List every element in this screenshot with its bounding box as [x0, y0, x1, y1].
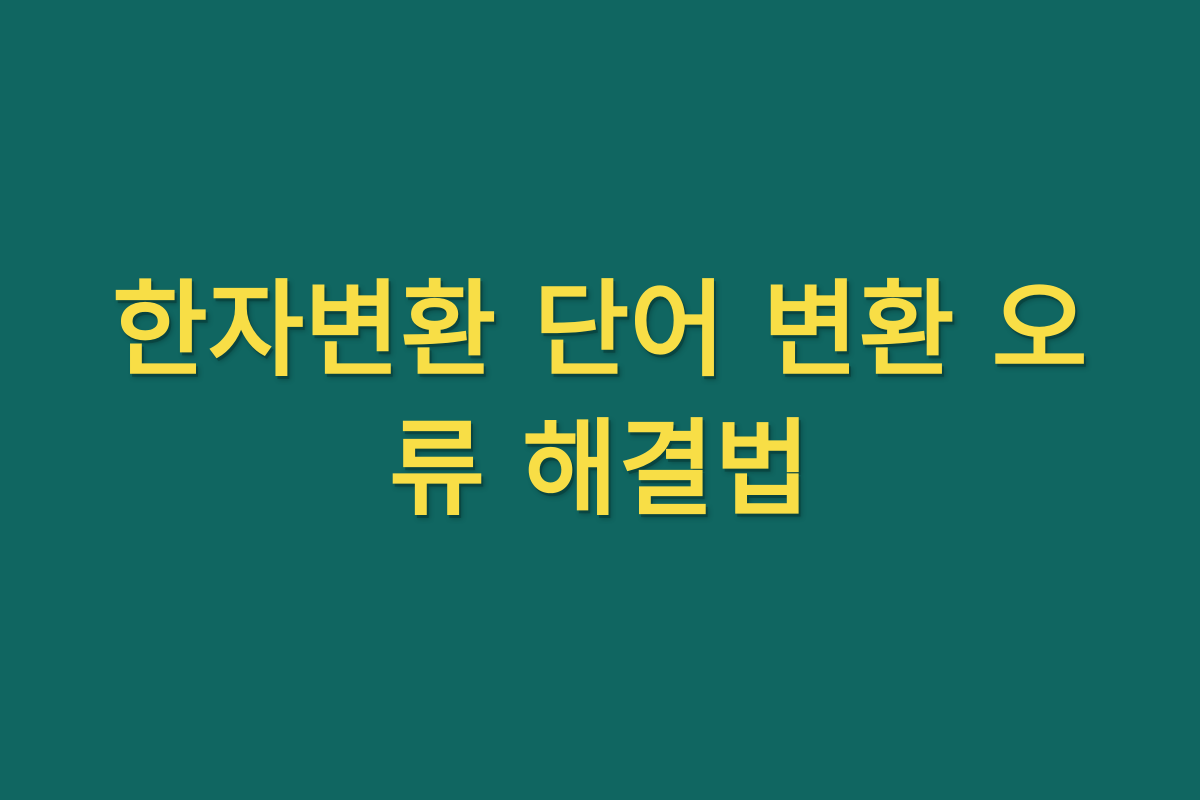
thumbnail-card: 한자변환 단어 변환 오 류 해결법 [0, 0, 1200, 800]
page-title-line-1: 한자변환 단어 변환 오 [100, 261, 1100, 400]
page-title-line-2: 류 해결법 [100, 400, 1100, 539]
page-title: 한자변환 단어 변환 오 류 해결법 [100, 261, 1100, 540]
